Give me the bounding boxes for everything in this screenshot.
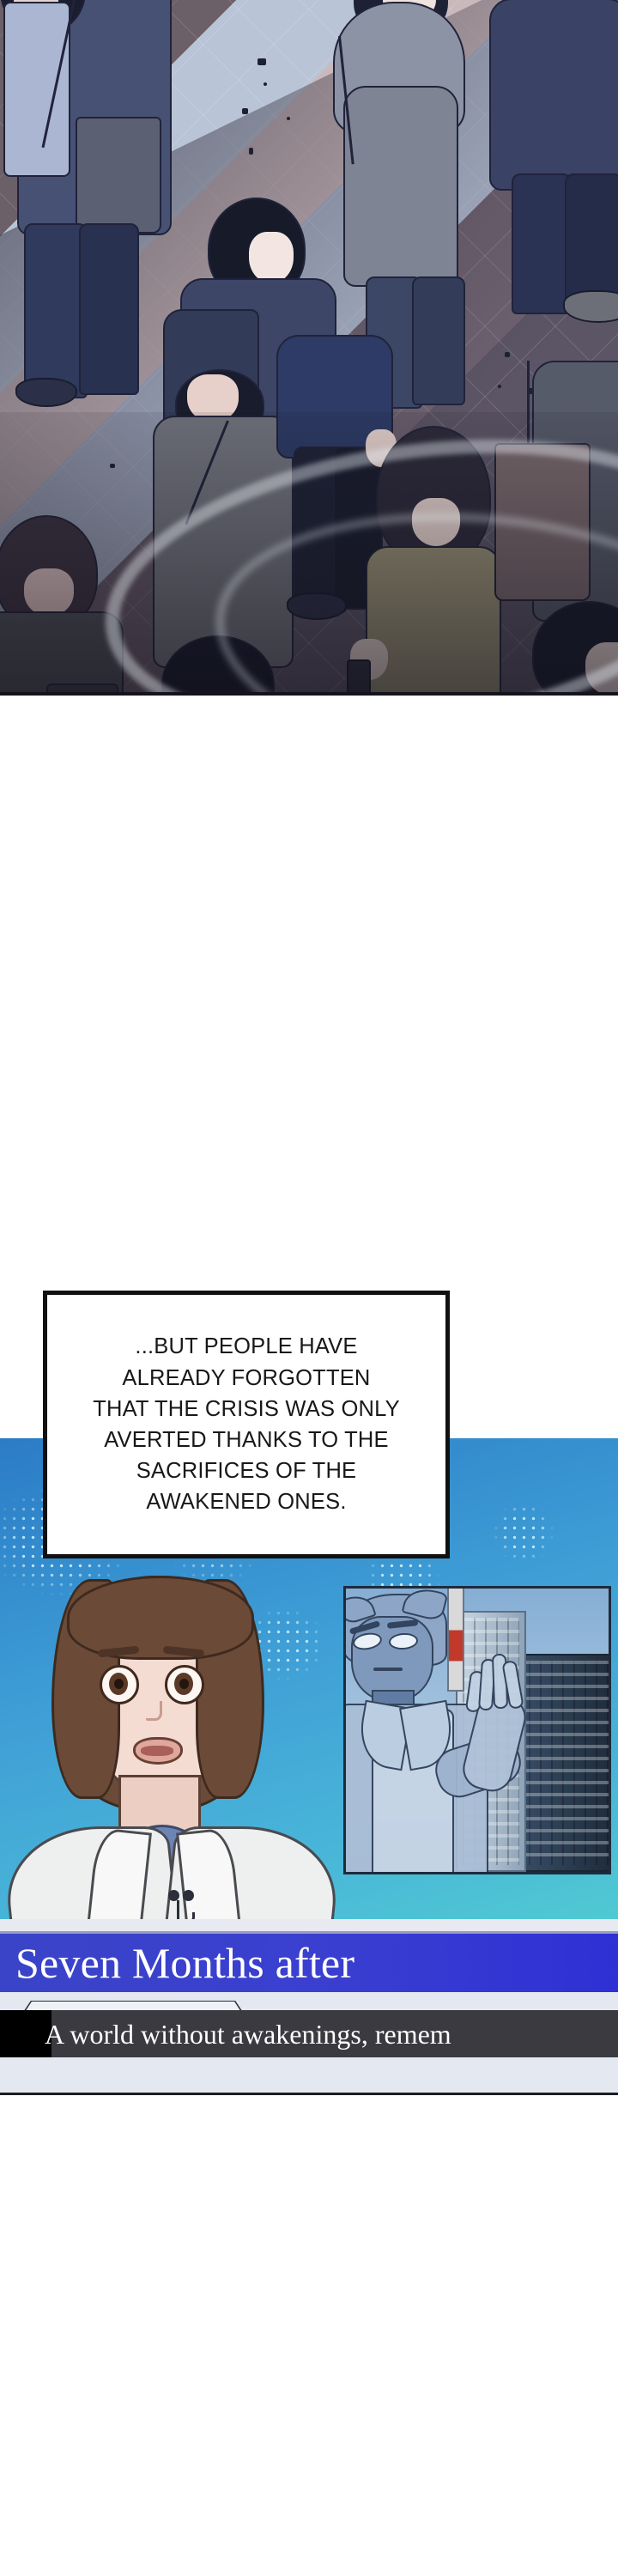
figure-leg <box>79 223 139 395</box>
broadcast-headline-banner: Seven Months after <box>0 1934 618 1992</box>
broadcast-headline-text: Seven Months after <box>0 1941 354 1984</box>
anchor-eye-left <box>100 1665 139 1704</box>
narration-caption-text: ...BUT PEOPLE HAVE ALREADY FORGOTTEN THA… <box>81 1331 412 1517</box>
anchor-eye-right <box>165 1665 204 1704</box>
figure-leg <box>412 276 465 405</box>
figure-shoe <box>15 378 77 407</box>
news-anchor <box>17 1576 326 1936</box>
figure-coat <box>489 0 618 191</box>
figure-face <box>249 232 294 283</box>
webtoon-page: Seven Months after A world without awake… <box>0 0 618 2576</box>
figure-leg <box>24 223 88 398</box>
figure-shirt <box>3 2 70 177</box>
anchor-mouth-inner <box>141 1746 173 1756</box>
panel-gutter-bottom <box>0 2095 618 2576</box>
anchor-iris <box>109 1673 128 1695</box>
broadcast-ticker-bar: A world without awakenings, remem <box>0 2010 618 2057</box>
figure-satchel <box>76 117 161 234</box>
anchor-nose <box>146 1701 162 1721</box>
ghost-mouth <box>373 1668 403 1671</box>
ghost-raised-hand <box>466 1650 523 1710</box>
anchor-hair-fringe <box>67 1576 254 1660</box>
anchor-mouth <box>133 1737 183 1765</box>
anchor-iris <box>174 1673 193 1695</box>
broadcast-ticker-text: A world without awakenings, remem <box>0 2020 451 2048</box>
anchor-pupil <box>179 1679 189 1689</box>
figure-leg <box>512 173 572 314</box>
figure-shoe <box>563 290 618 323</box>
narration-caption-box: ...BUT PEOPLE HAVE ALREADY FORGOTTEN THA… <box>43 1291 450 1558</box>
crowd-figure-right <box>481 0 618 326</box>
city-crowd-panel <box>0 0 618 696</box>
anchor-pupil <box>114 1679 124 1689</box>
ghost-awakened-figure <box>343 1594 538 1874</box>
awakened-figure-inset <box>343 1586 611 1874</box>
